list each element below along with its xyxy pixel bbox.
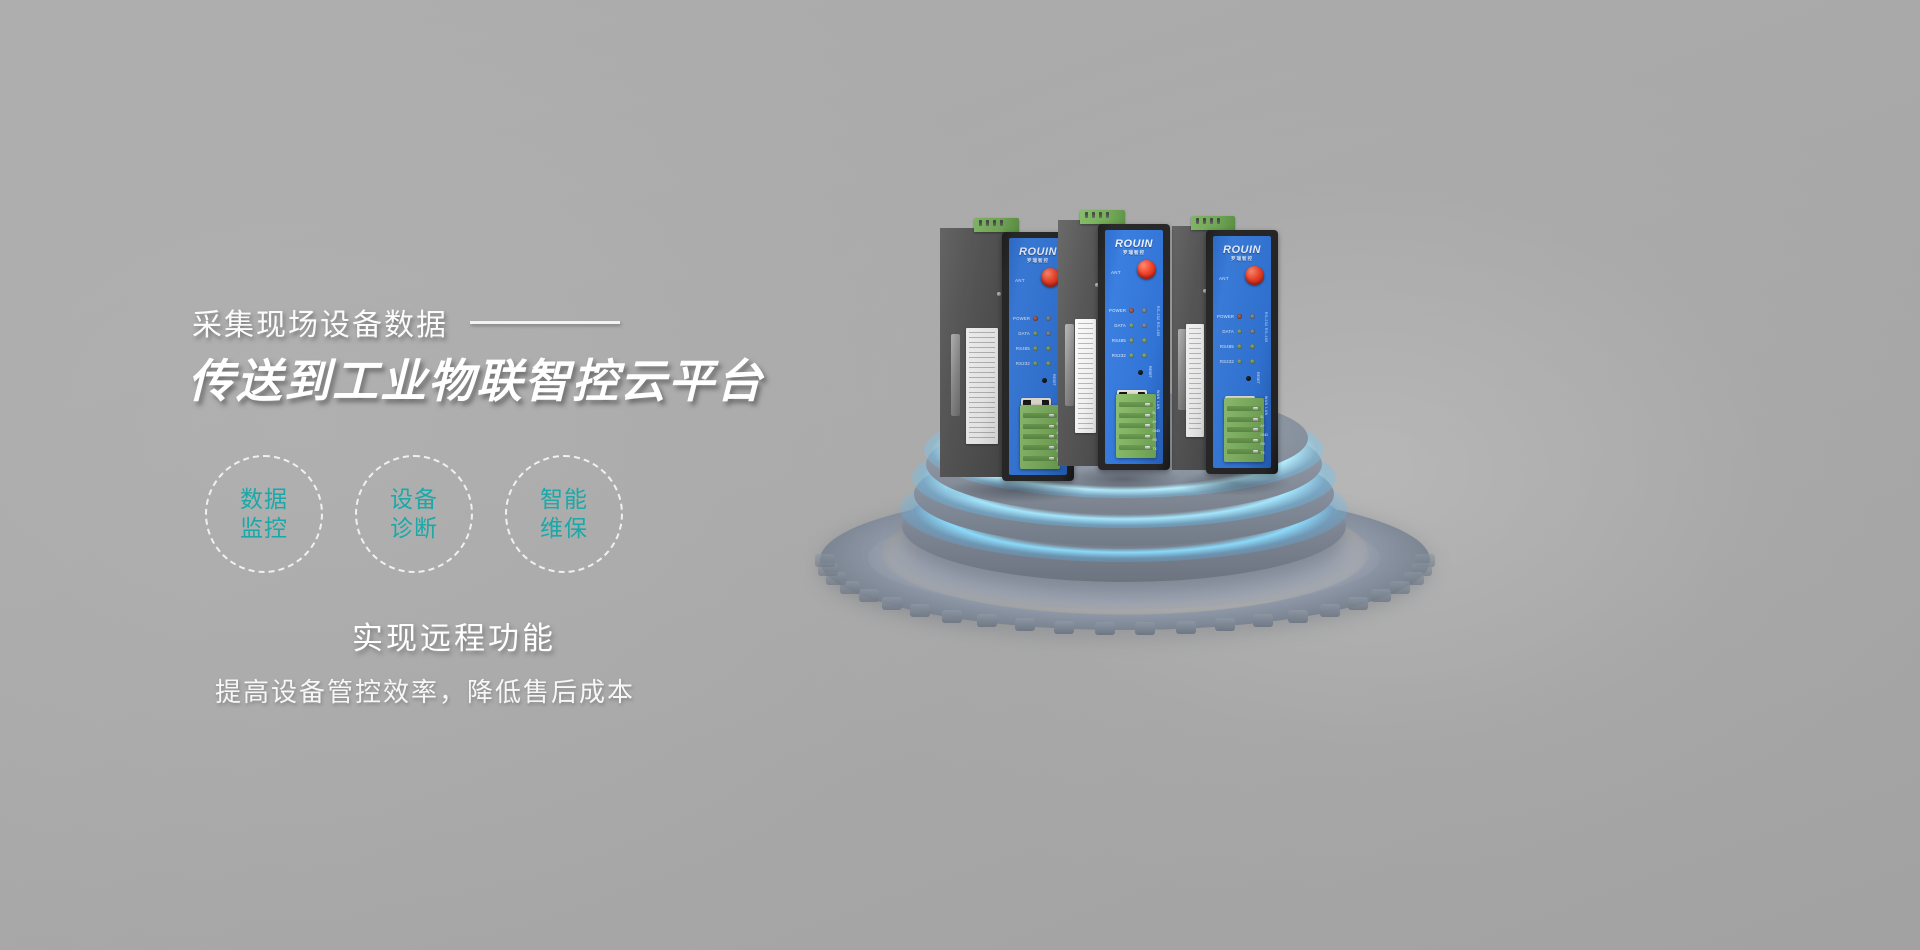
gear-tooth	[859, 589, 879, 602]
led-row-rs485: RS485	[1217, 344, 1255, 349]
feature-label-line1: 数据	[240, 485, 288, 514]
antenna-label: ANT	[1219, 276, 1229, 281]
brand-logo: ROUIN 罗瑞智控	[1223, 245, 1261, 262]
led-indicator	[1237, 314, 1242, 319]
led-indicator	[1046, 316, 1051, 321]
gear-tooth	[910, 604, 930, 617]
led-label: RS232	[1109, 353, 1126, 358]
reset-button[interactable]	[1138, 370, 1143, 375]
product-scene: ROUIN 罗瑞智控 ANT POWER DATA RS485	[790, 170, 1490, 640]
promo-banner: 采集现场设备数据 传送到工业物联智控云平台 数据 监控 设备 诊断 智能 维保 …	[0, 0, 1920, 950]
led-indicator	[1033, 361, 1038, 366]
led-row-rs485: RS485	[1109, 338, 1147, 343]
led-label: RS232	[1013, 361, 1030, 366]
terminal-port-label: B-	[1260, 413, 1268, 422]
terminal-port-label: A+	[1260, 422, 1268, 431]
terminal-pin	[979, 220, 982, 226]
terminal-screw	[1227, 449, 1261, 454]
led-row-data: DATA	[1109, 323, 1147, 328]
feature-circle-smart-maintenance[interactable]: 智能 维保	[505, 455, 623, 573]
terminal-pin	[1000, 220, 1003, 226]
feature-label-line2: 维保	[540, 514, 588, 543]
gear-tooth	[1320, 604, 1340, 617]
led-row-power: POWER	[1217, 314, 1255, 319]
led-row-data: DATA	[1013, 331, 1051, 336]
feature-label-line2: 诊断	[390, 514, 438, 543]
din-rail-clip	[1065, 324, 1074, 406]
terminal-screw	[1227, 406, 1261, 411]
led-indicator	[1129, 338, 1134, 343]
device-spec-sticker	[1075, 319, 1096, 433]
terminal-screw	[1119, 434, 1153, 439]
gear-tooth	[977, 614, 997, 627]
gear-tooth	[1348, 597, 1368, 610]
device-spec-sticker	[966, 328, 998, 444]
iot-gateway-device[interactable]: ROUIN 罗瑞智控 ANT POWER DATA RS485	[1058, 210, 1170, 482]
terminal-port-label: GND	[1260, 431, 1268, 440]
led-indicator	[1033, 346, 1038, 351]
iot-gateway-device[interactable]: ROUIN 罗瑞智控 ANT POWER DATA RS485	[940, 218, 1074, 493]
led-indicator	[1250, 344, 1255, 349]
terminal-screw	[1023, 434, 1057, 439]
led-indicator	[1129, 308, 1134, 313]
terminal-screw	[1119, 423, 1153, 428]
led-indicator	[1250, 329, 1255, 334]
led-indicator	[1129, 323, 1134, 328]
led-label: RS232	[1217, 359, 1234, 364]
led-row-data: DATA	[1217, 329, 1255, 334]
device-blue-panel: ROUIN 罗瑞智控 ANT POWER DATA RS485	[1105, 230, 1163, 464]
reset-label: RESET	[1148, 366, 1152, 378]
terminal-screw	[1023, 445, 1057, 450]
serial-interface-label: RS-232 RS-485	[1264, 312, 1268, 360]
reset-button[interactable]	[1246, 376, 1251, 381]
terminal-pin	[1217, 218, 1220, 224]
brand-name-cn: 罗瑞智控	[1019, 258, 1057, 264]
terminal-port-label: RX	[1260, 440, 1268, 449]
terminal-screw	[1119, 413, 1153, 418]
reset-label: RESET	[1256, 372, 1260, 384]
antenna-connector[interactable]	[1245, 266, 1264, 285]
terminal-pin	[1085, 212, 1088, 218]
feature-circle-device-diagnosis[interactable]: 设备 诊断	[355, 455, 473, 573]
sub-heading: 实现远程功能	[352, 613, 556, 658]
led-indicator	[1250, 314, 1255, 319]
feature-label-line1: 设备	[390, 485, 438, 514]
terminal-pin	[993, 220, 996, 226]
antenna-connector[interactable]	[1041, 268, 1060, 287]
gear-tooth	[1253, 614, 1273, 627]
led-row-rs232: RS232	[1013, 361, 1051, 366]
gear-tooth	[815, 554, 835, 567]
antenna-label: ANT	[1015, 278, 1025, 283]
brand-name-cn: 罗瑞智控	[1223, 256, 1261, 262]
wan-lan-label: WAN LAN	[1156, 390, 1160, 410]
serial-interface-label: RS-232 RS-485	[1156, 306, 1160, 354]
led-row-rs232: RS232	[1217, 359, 1255, 364]
terminal-port-label: B-	[1152, 409, 1160, 418]
terminal-port-label: A+	[1152, 418, 1160, 427]
gear-tooth	[1176, 621, 1196, 634]
led-indicator	[1142, 338, 1147, 343]
device-front-face: ROUIN 罗瑞智控 ANT POWER DATA RS485	[1206, 230, 1278, 474]
led-indicator	[1033, 331, 1038, 336]
din-rail-clip	[951, 334, 960, 417]
terminal-pin	[1210, 218, 1213, 224]
device-spec-sticker	[1186, 324, 1204, 437]
led-label: DATA	[1109, 323, 1126, 328]
led-indicator	[1046, 361, 1051, 366]
gear-tooth	[1390, 581, 1410, 594]
led-row-power: POWER	[1013, 316, 1051, 321]
terminal-pin	[1203, 218, 1206, 224]
led-label: POWER	[1109, 308, 1126, 313]
brand-logo: ROUIN 罗瑞智控	[1019, 247, 1057, 264]
led-indicator	[1142, 353, 1147, 358]
sticker-text-lines	[969, 332, 995, 440]
feature-label-line1: 智能	[540, 485, 588, 514]
gear-tooth	[882, 597, 902, 610]
terminal-pin	[986, 220, 989, 226]
terminal-screw	[1227, 427, 1261, 432]
gear-tooth	[1371, 589, 1391, 602]
led-indicator	[1237, 344, 1242, 349]
bottom-terminal-block[interactable]	[1224, 398, 1264, 462]
led-label: POWER	[1013, 316, 1030, 321]
led-row-rs485: RS485	[1013, 346, 1051, 351]
sticker-text-lines	[1189, 328, 1201, 433]
sub-note: 提高设备管控效率，降低售后成本	[215, 672, 635, 709]
led-indicator	[1142, 308, 1147, 313]
terminal-screw	[1227, 438, 1261, 443]
terminal-port-label: RX	[1152, 436, 1160, 445]
antenna-connector[interactable]	[1137, 260, 1156, 279]
kicker-rule	[470, 321, 620, 324]
terminal-screw	[1023, 424, 1057, 429]
iot-gateway-device[interactable]: ROUIN 罗瑞智控 ANT POWER DATA RS485	[1172, 216, 1278, 486]
brand-name: ROUIN	[1223, 245, 1261, 256]
terminal-pin	[1092, 212, 1095, 218]
terminal-screw	[1119, 445, 1153, 450]
gear-tooth	[1215, 618, 1235, 631]
led-indicator	[1129, 353, 1134, 358]
bottom-terminal-block[interactable]	[1020, 405, 1060, 469]
top-terminal-block	[1191, 216, 1236, 230]
brand-name: ROUIN	[1115, 239, 1153, 250]
reset-button[interactable]	[1042, 378, 1047, 383]
page-title: 传送到工业物联智控云平台	[188, 345, 764, 411]
led-label: DATA	[1013, 331, 1030, 336]
terminal-port-label: TX	[1152, 445, 1160, 454]
terminal-screw	[1023, 456, 1057, 461]
top-terminal-block	[1080, 210, 1125, 224]
terminal-screw	[1023, 413, 1057, 418]
led-indicator	[1046, 346, 1051, 351]
brand-logo: ROUIN 罗瑞智控	[1115, 239, 1153, 256]
bottom-terminal-block[interactable]	[1116, 394, 1156, 458]
kicker-row: 采集现场设备数据	[192, 300, 620, 344]
gear-tooth	[1054, 621, 1074, 634]
led-indicator	[1237, 329, 1242, 334]
led-label: RS485	[1109, 338, 1126, 343]
terminal-port-labels: B-A+GNDRXTX	[1152, 409, 1160, 454]
feature-circle-data-monitor[interactable]: 数据 监控	[205, 455, 323, 573]
led-indicator	[1237, 359, 1242, 364]
device-blue-panel: ROUIN 罗瑞智控 ANT POWER DATA RS485	[1213, 236, 1271, 468]
gear-tooth	[1288, 610, 1308, 623]
led-indicator	[1142, 323, 1147, 328]
terminal-screw	[1227, 417, 1261, 422]
gear-tooth	[1015, 618, 1035, 631]
gear-tooth	[1135, 622, 1155, 635]
led-indicator	[1033, 316, 1038, 321]
terminal-port-labels: B-A+GNDRXTX	[1260, 413, 1268, 458]
kicker-text: 采集现场设备数据	[192, 300, 448, 344]
top-terminal-block	[974, 218, 1019, 232]
terminal-screw	[1119, 402, 1153, 407]
led-label: DATA	[1217, 329, 1234, 334]
terminal-pin	[1099, 212, 1102, 218]
led-indicator	[1250, 359, 1255, 364]
terminal-pin	[1196, 218, 1199, 224]
terminal-port-label: TX	[1260, 449, 1268, 458]
led-indicator	[1046, 331, 1051, 336]
led-label: RS485	[1217, 344, 1234, 349]
feature-label-line2: 监控	[240, 514, 288, 543]
reset-label: RESET	[1052, 374, 1056, 386]
terminal-port-label: GND	[1152, 427, 1160, 436]
copy-block: 采集现场设备数据 传送到工业物联智控云平台 数据 监控 设备 诊断 智能 维保 …	[0, 0, 760, 950]
feature-circle-list: 数据 监控 设备 诊断 智能 维保	[205, 455, 623, 573]
sticker-text-lines	[1078, 323, 1093, 429]
terminal-pin	[1106, 212, 1109, 218]
led-label: POWER	[1217, 314, 1234, 319]
device-front-face: ROUIN 罗瑞智控 ANT POWER DATA RS485	[1098, 224, 1170, 470]
led-label: RS485	[1013, 346, 1030, 351]
brand-name-cn: 罗瑞智控	[1115, 250, 1153, 256]
gear-tooth	[1095, 622, 1115, 635]
gear-tooth	[942, 610, 962, 623]
antenna-label: ANT	[1111, 270, 1121, 275]
led-row-rs232: RS232	[1109, 353, 1147, 358]
brand-name: ROUIN	[1019, 247, 1057, 258]
led-row-power: POWER	[1109, 308, 1147, 313]
